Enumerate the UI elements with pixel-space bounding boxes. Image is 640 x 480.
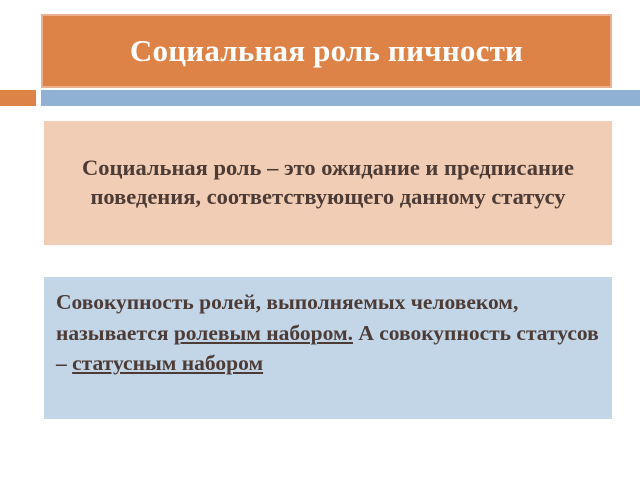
page-title: Социальная роль пичности (130, 35, 523, 68)
slide-title-box: Социальная роль пичности (41, 14, 612, 88)
slide-canvas: Социальная роль пичности Социальная роль… (0, 0, 640, 480)
definition-box: Социальная роль – это ожидание и предпис… (44, 121, 612, 245)
definition-text: Социальная роль – это ожидание и предпис… (58, 154, 598, 212)
accent-rule-divider (41, 90, 640, 106)
role-set-box: Совокупность ролей, выполняемых человеко… (44, 277, 612, 419)
role-set-text: Совокупность ролей, выполняемых человеко… (56, 287, 600, 379)
role-set-term-statusnym-naborom: статусным набором (72, 351, 263, 375)
role-set-term-rolevym-naborom: ролевым набором. (174, 321, 353, 345)
accent-square-decoration (0, 90, 36, 106)
